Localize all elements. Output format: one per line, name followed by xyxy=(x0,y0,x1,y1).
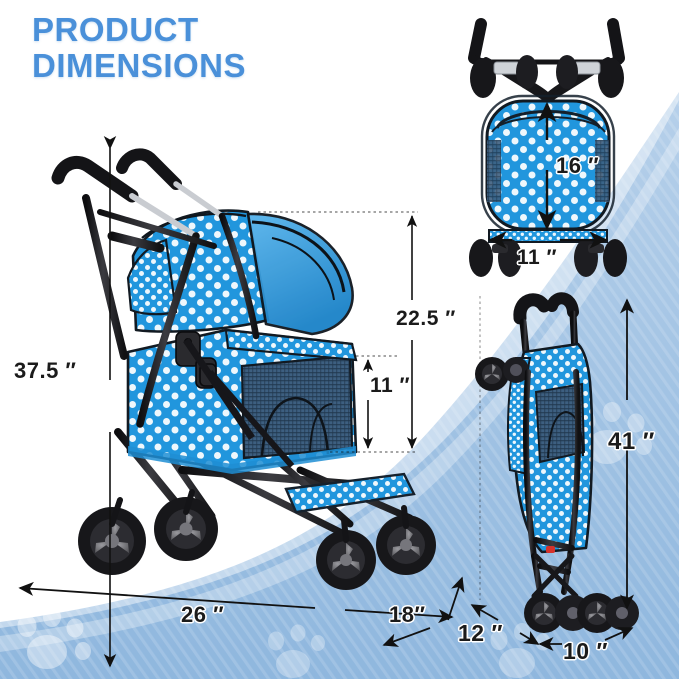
stroller-folded-view xyxy=(475,298,639,633)
stroller-top-view xyxy=(469,24,627,277)
dimension-label-folded-depth: 12 ″ xyxy=(458,620,503,647)
dimension-label-cabin-length: 16 ″ xyxy=(556,153,599,179)
dimension-label-cabin-width: 11 ″ xyxy=(517,246,557,270)
front-wheel-outer xyxy=(316,530,376,590)
front-wheel-inner xyxy=(376,515,436,575)
dimension-label-folded-height: 41 ″ xyxy=(608,428,655,456)
product-illustrations xyxy=(0,0,679,679)
dimension-label-folded-width: 10 ″ xyxy=(563,638,608,665)
product-dimensions-infographic: PRODUCT DIMENSIONS xyxy=(0,0,679,679)
stroller-side-view xyxy=(58,154,436,590)
rear-wheel-inner xyxy=(154,497,218,561)
page-title-line-2: DIMENSIONS xyxy=(32,48,246,84)
dimension-label-overall-length: 26 ″ xyxy=(181,602,224,628)
page-title: PRODUCT DIMENSIONS xyxy=(32,12,246,83)
page-title-line-1: PRODUCT xyxy=(32,12,246,48)
paw-print-bottom-center xyxy=(268,625,325,679)
dimension-label-cabin-inner-height: 11 ″ xyxy=(370,374,410,398)
paw-print-bottom-left xyxy=(18,607,92,669)
background-decoration xyxy=(0,0,679,679)
dimension-label-overall-height: 37.5 ″ xyxy=(14,358,76,384)
rear-wheel-outer xyxy=(78,507,146,575)
dimension-label-cabin-top-height: 22.5 ″ xyxy=(396,307,456,331)
dimension-annotations xyxy=(0,0,679,679)
dimension-label-overall-width: 18″ xyxy=(389,602,426,628)
